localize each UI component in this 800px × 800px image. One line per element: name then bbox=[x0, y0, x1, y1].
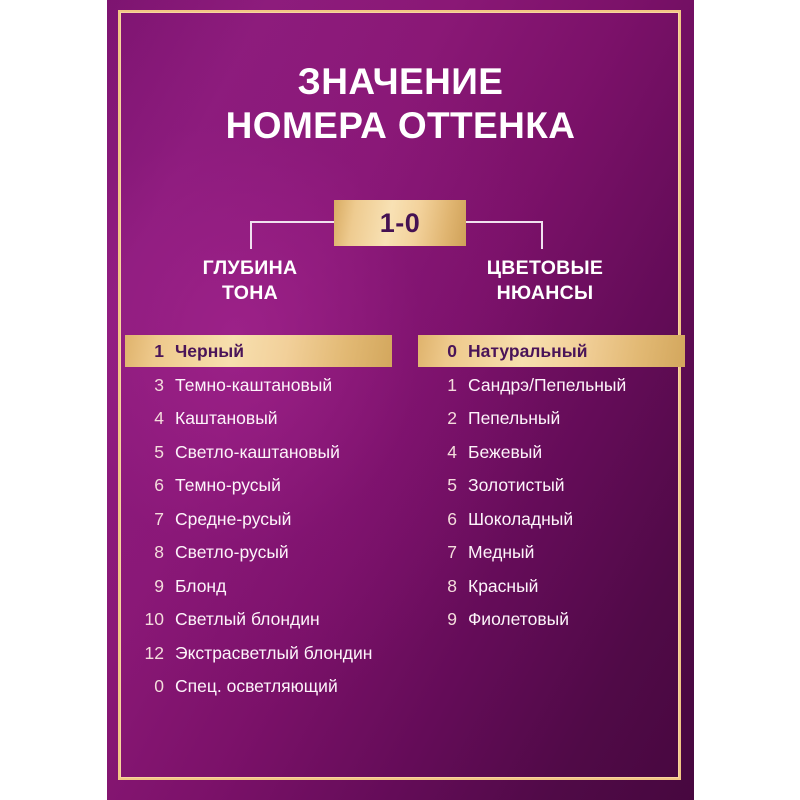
list-item: 5Золотистый bbox=[418, 469, 685, 503]
list-item: 1Сандрэ/Пепельный bbox=[418, 369, 685, 403]
list-item-number: 5 bbox=[418, 475, 468, 496]
list-item-label: Темно-каштановый bbox=[175, 375, 332, 396]
list-item-label: Спец. осветляющий bbox=[175, 676, 338, 697]
column-header-nuance: ЦВЕТОВЫЕ НЮАНСЫ bbox=[445, 256, 645, 306]
list-item: 12Экстрасветлый блондин bbox=[125, 637, 392, 671]
list-item-number: 7 bbox=[125, 509, 175, 530]
list-item-label: Светлый блондин bbox=[175, 609, 320, 630]
list-item-number: 6 bbox=[418, 509, 468, 530]
list-item-number: 0 bbox=[418, 341, 468, 362]
list-item-number: 9 bbox=[125, 576, 175, 597]
shade-number-badge: 1-0 bbox=[334, 200, 466, 246]
nuance-list: 0Натуральный1Сандрэ/Пепельный2Пепельный4… bbox=[418, 335, 685, 637]
list-item-number: 1 bbox=[418, 375, 468, 396]
depth-list: 1Черный3Темно-каштановый4Каштановый5Свет… bbox=[125, 335, 392, 704]
list-item-label: Шоколадный bbox=[468, 509, 573, 530]
list-item-label: Золотистый bbox=[468, 475, 565, 496]
list-item-label: Пепельный bbox=[468, 408, 560, 429]
list-item: 8Красный bbox=[418, 570, 685, 604]
page-title: ЗНАЧЕНИЕ НОМЕРА ОТТЕНКА bbox=[107, 60, 694, 148]
list-item: 10Светлый блондин bbox=[125, 603, 392, 637]
list-item-label: Сандрэ/Пепельный bbox=[468, 375, 626, 396]
poster-canvas: ЗНАЧЕНИЕ НОМЕРА ОТТЕНКА 1-0 ГЛУБИНА ТОНА… bbox=[0, 0, 800, 800]
list-item: 8Светло-русый bbox=[125, 536, 392, 570]
column-header-nuance-line-1: ЦВЕТОВЫЕ bbox=[445, 256, 645, 281]
list-item: 6Темно-русый bbox=[125, 469, 392, 503]
purple-poster-panel: ЗНАЧЕНИЕ НОМЕРА ОТТЕНКА 1-0 ГЛУБИНА ТОНА… bbox=[107, 0, 694, 800]
bracket-connector-right bbox=[463, 221, 543, 249]
list-item-number: 3 bbox=[125, 375, 175, 396]
list-item-label: Черный bbox=[175, 341, 244, 362]
list-item-label: Темно-русый bbox=[175, 475, 281, 496]
list-item: 5Светло-каштановый bbox=[125, 436, 392, 470]
list-item: 7Медный bbox=[418, 536, 685, 570]
column-header-depth: ГЛУБИНА ТОНА bbox=[150, 256, 350, 306]
list-item: 4Каштановый bbox=[125, 402, 392, 436]
list-item-number: 1 bbox=[125, 341, 175, 362]
list-item-number: 10 bbox=[125, 609, 175, 630]
list-item: 6Шоколадный bbox=[418, 503, 685, 537]
title-line-1: ЗНАЧЕНИЕ bbox=[298, 61, 504, 102]
list-item-number: 2 bbox=[418, 408, 468, 429]
list-item-label: Блонд bbox=[175, 576, 226, 597]
title-line-2: НОМЕРА ОТТЕНКА bbox=[107, 104, 694, 148]
list-item-number: 7 bbox=[418, 542, 468, 563]
list-item-number: 8 bbox=[125, 542, 175, 563]
list-item-label: Фиолетовый bbox=[468, 609, 569, 630]
list-item-label: Бежевый bbox=[468, 442, 542, 463]
list-item-number: 5 bbox=[125, 442, 175, 463]
list-item-number: 6 bbox=[125, 475, 175, 496]
column-header-depth-line-2: ТОНА bbox=[150, 281, 350, 306]
list-item-label: Медный bbox=[468, 542, 534, 563]
list-item-number: 4 bbox=[125, 408, 175, 429]
list-item-label: Светло-каштановый bbox=[175, 442, 340, 463]
list-item-label: Красный bbox=[468, 576, 538, 597]
list-item: 4Бежевый bbox=[418, 436, 685, 470]
list-item-number: 12 bbox=[125, 643, 175, 664]
bracket-connector-left bbox=[250, 221, 342, 249]
list-item-label: Каштановый bbox=[175, 408, 278, 429]
list-item-highlighted: 1Черный bbox=[125, 335, 392, 367]
column-header-nuance-line-2: НЮАНСЫ bbox=[445, 281, 645, 306]
list-item-label: Экстрасветлый блондин bbox=[175, 643, 372, 664]
list-item-label: Средне-русый bbox=[175, 509, 291, 530]
list-item: 0Спец. осветляющий bbox=[125, 670, 392, 704]
list-item: 9Фиолетовый bbox=[418, 603, 685, 637]
list-item-highlighted: 0Натуральный bbox=[418, 335, 685, 367]
list-item-number: 0 bbox=[125, 676, 175, 697]
list-item-number: 4 bbox=[418, 442, 468, 463]
list-item-label: Светло-русый bbox=[175, 542, 289, 563]
column-header-depth-line-1: ГЛУБИНА bbox=[150, 256, 350, 281]
list-item: 3Темно-каштановый bbox=[125, 369, 392, 403]
list-item-number: 9 bbox=[418, 609, 468, 630]
list-item: 2Пепельный bbox=[418, 402, 685, 436]
list-item-label: Натуральный bbox=[468, 341, 587, 362]
list-item: 7Средне-русый bbox=[125, 503, 392, 537]
list-item: 9Блонд bbox=[125, 570, 392, 604]
list-item-number: 8 bbox=[418, 576, 468, 597]
